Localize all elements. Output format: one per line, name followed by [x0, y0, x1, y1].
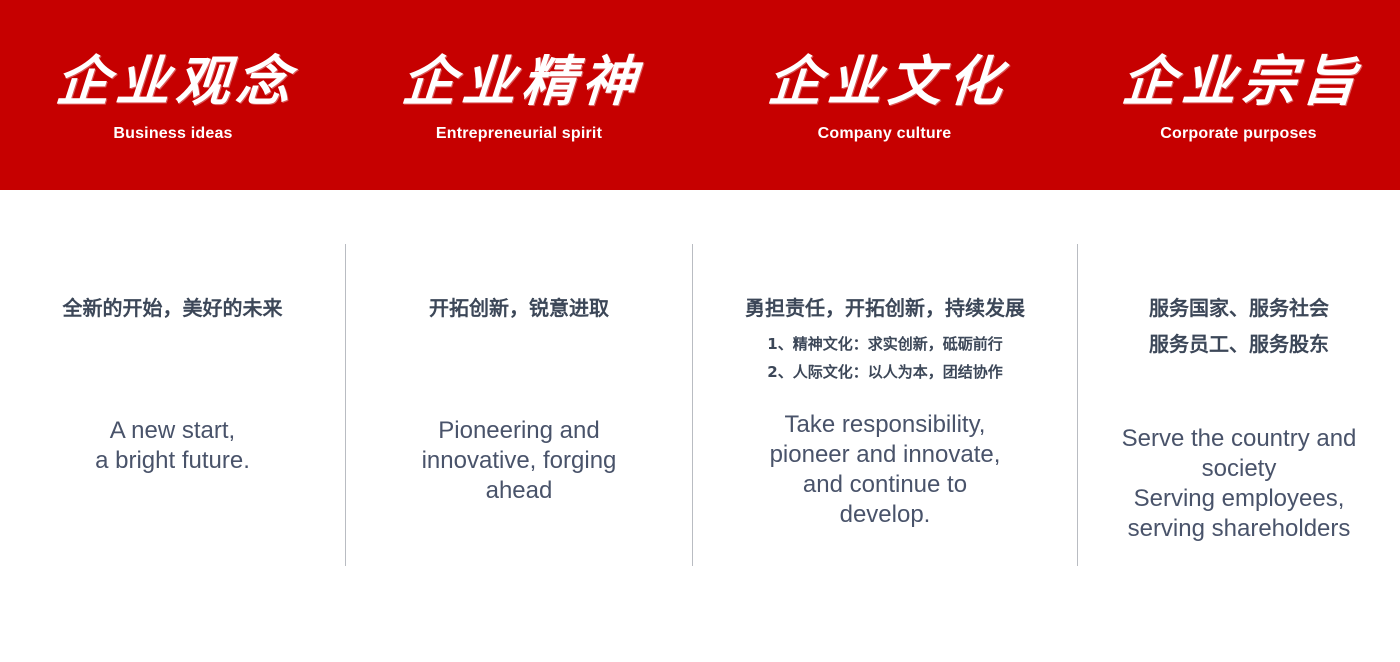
body-cn-headline-4: 服务国家、服务社会 服务员工、服务股东 [1149, 290, 1329, 362]
header-cn-title-2: 企业精神 [400, 50, 644, 112]
body-column-corporate-purposes: 服务国家、服务社会 服务员工、服务股东 Serve the country an… [1078, 190, 1400, 662]
header-band: 企业观念 Business ideas 企业精神 Entrepreneurial… [0, 0, 1400, 190]
body-column-business-ideas: 全新的开始，美好的未来 A new start, a bright future… [0, 190, 345, 662]
culture-sub-item-2: 2、人际文化：以人为本，团结协作 [767, 358, 1002, 386]
corporate-culture-banner: 企业观念 Business ideas 企业精神 Entrepreneurial… [0, 0, 1400, 662]
body-column-entrepreneurial-spirit: 开拓创新，锐意进取 Pioneering and innovative, for… [346, 190, 692, 662]
header-cn-title-1: 企业观念 [54, 50, 298, 112]
body-en-text-2: Pioneering and innovative, forging ahead [422, 416, 617, 506]
culture-sub-list: 1、精神文化：求实创新，砥砺前行 2、人际文化：以人为本，团结协作 [767, 330, 1002, 386]
body-area: 全新的开始，美好的未来 A new start, a bright future… [0, 190, 1400, 662]
body-cn-headline-2: 开拓创新，锐意进取 [429, 290, 609, 326]
body-en-text-4: Serve the country and society Serving em… [1122, 424, 1357, 544]
header-column-company-culture: 企业文化 Company culture [692, 0, 1077, 190]
body-cn-headline-1: 全新的开始，美好的未来 [63, 290, 283, 326]
body-column-company-culture: 勇担责任，开拓创新，持续发展 1、精神文化：求实创新，砥砺前行 2、人际文化：以… [693, 190, 1077, 662]
body-en-text-1: A new start, a bright future. [95, 416, 250, 476]
header-en-subtitle-1: Business ideas [113, 125, 232, 143]
header-en-subtitle-3: Company culture [818, 125, 952, 143]
header-column-entrepreneurial-spirit: 企业精神 Entrepreneurial spirit [346, 0, 692, 190]
header-column-business-ideas: 企业观念 Business ideas [0, 0, 346, 190]
header-column-corporate-purposes: 企业宗旨 Corporate purposes [1077, 0, 1400, 190]
header-cn-title-3: 企业文化 [765, 50, 1009, 112]
header-cn-title-4: 企业宗旨 [1119, 50, 1363, 112]
header-en-subtitle-2: Entrepreneurial spirit [436, 125, 602, 143]
culture-sub-item-1: 1、精神文化：求实创新，砥砺前行 [767, 330, 1002, 358]
header-en-subtitle-4: Corporate purposes [1160, 125, 1317, 143]
body-cn-headline-3: 勇担责任，开拓创新，持续发展 [745, 290, 1025, 326]
body-en-text-3: Take responsibility, pioneer and innovat… [770, 410, 1001, 530]
